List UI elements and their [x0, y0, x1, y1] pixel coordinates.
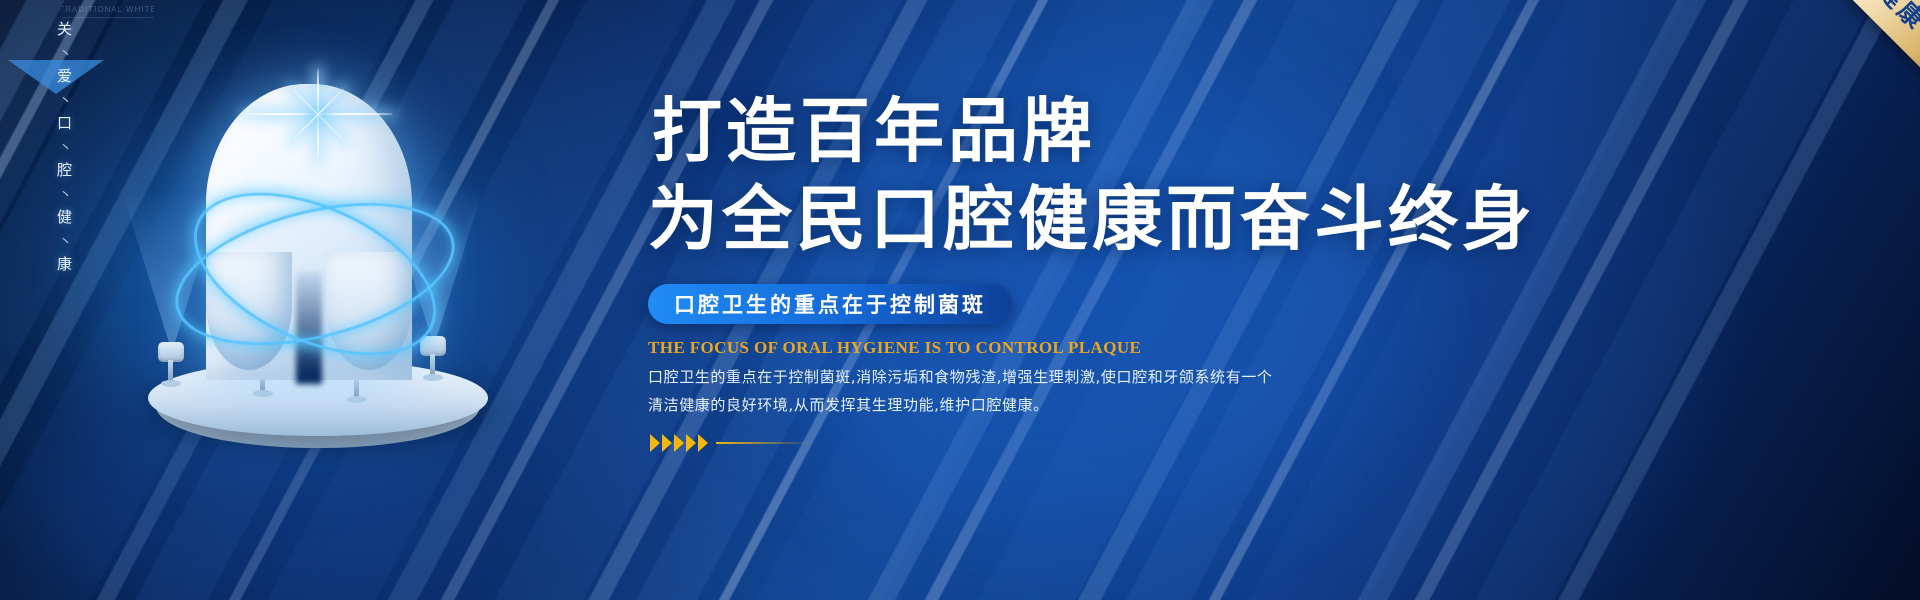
tooth-illustration [120, 60, 540, 480]
spotlight-4 [420, 336, 446, 380]
chevron-rule [716, 442, 812, 444]
caption-char-5: 康 [57, 257, 73, 272]
headline-line-2: 为全民口腔健康而奋斗终身 [648, 184, 1828, 254]
caption-char-4: 健 [57, 210, 73, 225]
spotlight-stem-4 [430, 354, 435, 376]
chevron-icon-0 [650, 434, 660, 452]
spotlight-1 [158, 342, 184, 386]
key-message-badge-label: 口腔卫生的重点在于控制菌斑 [674, 289, 986, 319]
headline-line-1: 打造百年品牌 [652, 96, 1828, 166]
caption-char-2: 口 [57, 116, 73, 131]
watermark-logo: TRADITIONAL WHITE [62, 2, 154, 18]
ribbon-label: 关爱口腔健康 [1788, 0, 1920, 38]
english-subtitle: THE FOCUS OF ORAL HYGIENE IS TO CONTROL … [648, 338, 1828, 358]
spotlight-base-3 [347, 396, 367, 403]
key-message-badge: 口腔卫生的重点在于控制菌斑 [648, 284, 1012, 324]
chevron-icon-2 [674, 434, 684, 452]
spotlight-stem-1 [168, 360, 173, 382]
spotlight-head-1 [158, 342, 184, 362]
spotlight-base-2 [253, 390, 273, 397]
dental-promo-banner: TRADITIONAL WHITE 关 丶 爱 丶 口 丶 腔 丶 健 丶 康 … [0, 0, 1920, 600]
caption-char-3: 腔 [57, 163, 73, 178]
caption-separator-3: 丶 [59, 184, 81, 204]
caption-separator-2: 丶 [59, 137, 81, 157]
chevron-divider [650, 434, 1828, 452]
caption-char-0: 关 [57, 22, 73, 37]
caption-separator-4: 丶 [59, 231, 81, 251]
chevron-icon-4 [698, 434, 708, 452]
caption-separator-0: 丶 [59, 43, 81, 63]
chevron-icon-1 [662, 434, 672, 452]
corner-ribbon: 关爱口腔健康 [1733, 0, 1920, 93]
chevron-icon-3 [686, 434, 696, 452]
content-column: 打造百年品牌 为全民口腔健康而奋斗终身 口腔卫生的重点在于控制菌斑 THE FO… [648, 96, 1828, 452]
spotlight-base-4 [423, 374, 443, 381]
caption-separator-1: 丶 [59, 90, 81, 110]
caption-char-1: 爱 [57, 69, 73, 84]
paragraph-line-2: 清洁健康的良好环境,从而发挥其生理功能,维护口腔健康。 [648, 392, 1828, 420]
left-vertical-caption: 关 丶 爱 丶 口 丶 腔 丶 健 丶 康 [48, 22, 82, 272]
paragraph-line-1: 口腔卫生的重点在于控制菌斑,消除污垢和食物残渣,增强生理刺激,使口腔和牙颌系统有… [648, 364, 1828, 392]
spotlight-base-1 [161, 380, 181, 387]
